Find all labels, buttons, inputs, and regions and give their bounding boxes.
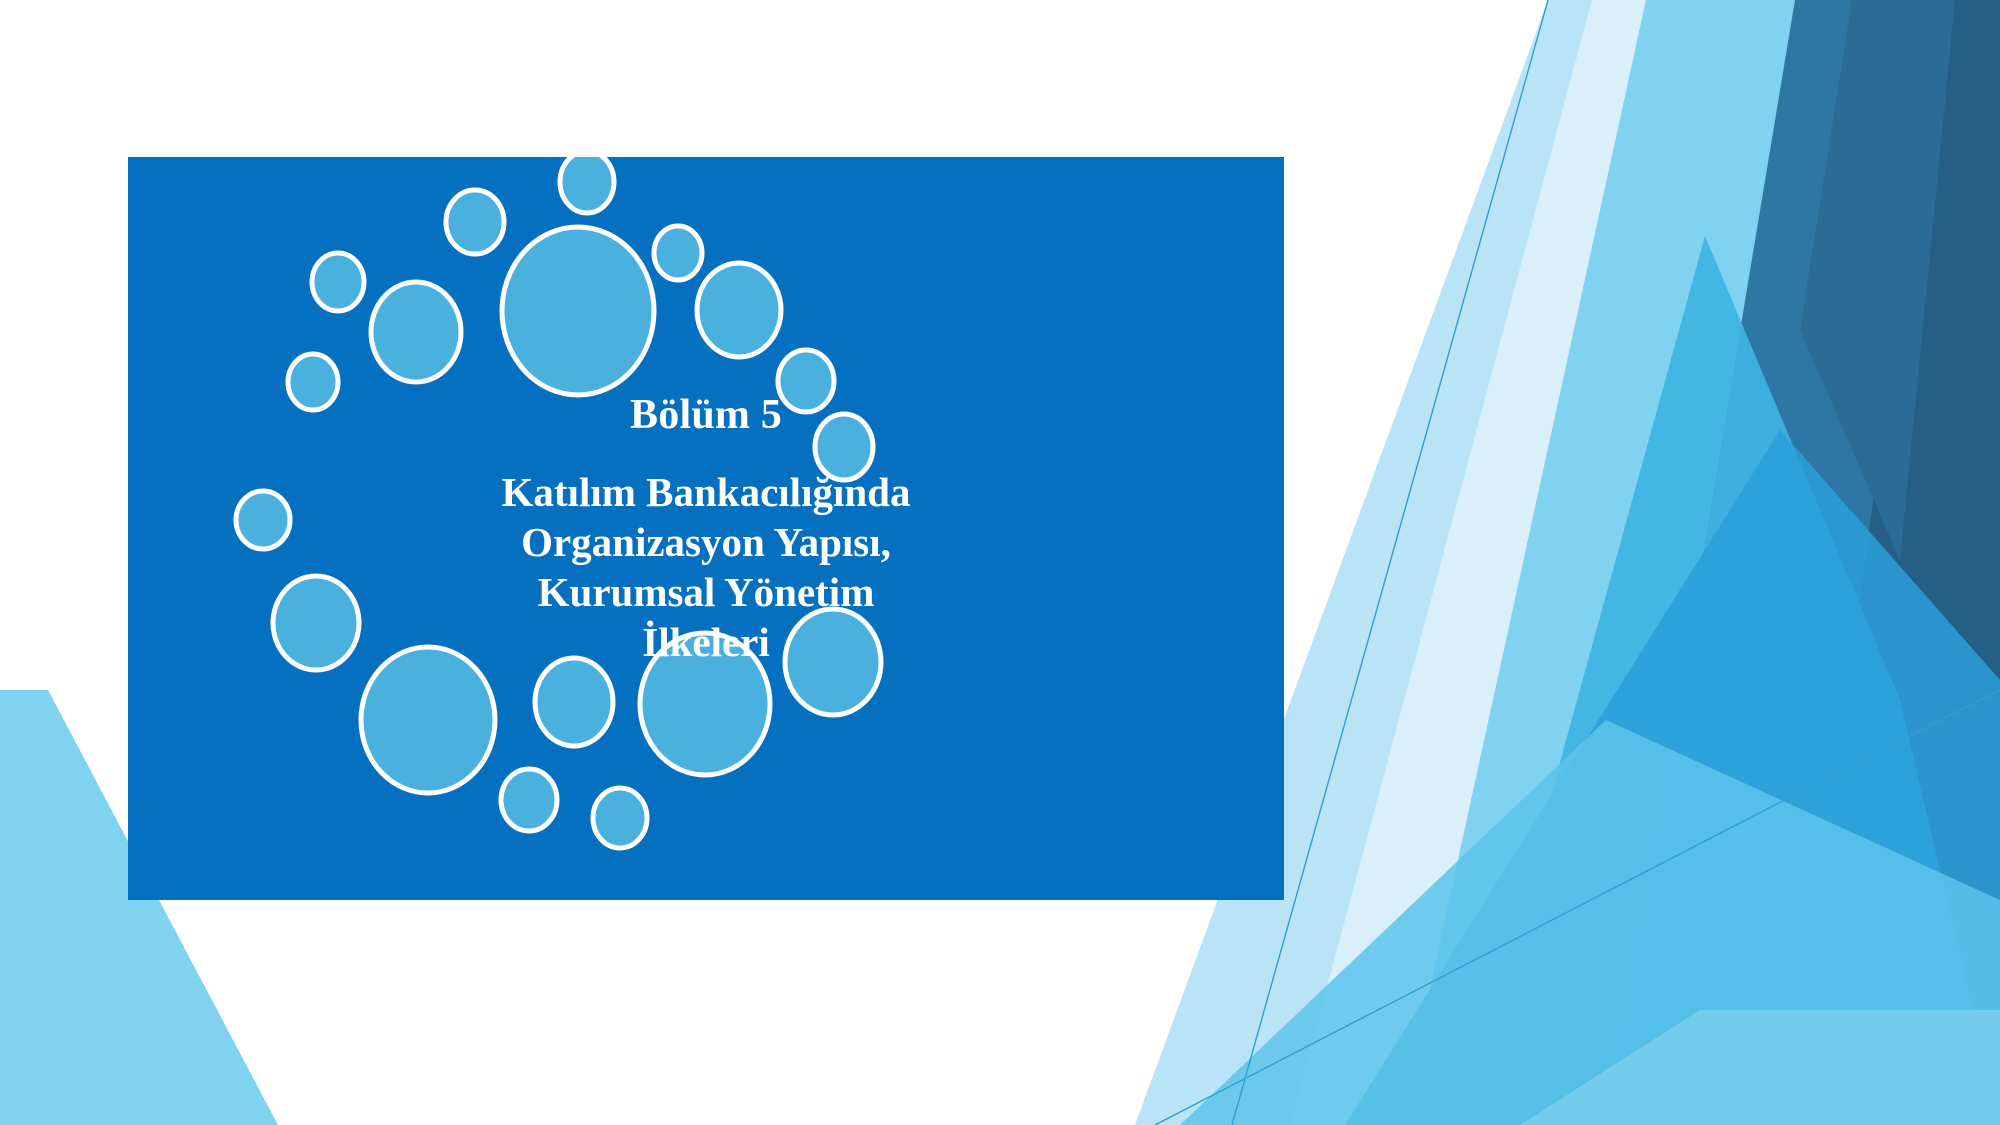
bubble-circle xyxy=(502,227,654,395)
facet-pale-bottom-fan xyxy=(1520,1010,2000,1125)
panel-background-rect xyxy=(128,157,1284,900)
bubble-circle-art xyxy=(128,157,1284,900)
bubble-circle xyxy=(560,157,614,213)
bubble-circle xyxy=(535,658,613,746)
bubble-circle xyxy=(640,633,770,775)
bubble-circle xyxy=(785,609,881,715)
facet-sky-wide xyxy=(1205,0,1795,1125)
facet-mid-blue-band xyxy=(1460,236,2000,1125)
facet-navy-right-edge xyxy=(1790,0,2000,1125)
facet-blue-lower-sweep xyxy=(1345,430,2000,1125)
presentation-slide: Bölüm 5 Katılım Bankacılığında Organizas… xyxy=(0,0,2000,1125)
facet-steel-far-right xyxy=(1560,0,2000,1125)
bubble-circle xyxy=(654,226,702,280)
bubble-circle xyxy=(697,263,781,357)
bubble-circle xyxy=(361,647,495,793)
bubble-circle xyxy=(371,282,461,382)
bubble-circle xyxy=(273,576,359,670)
bubble-circle xyxy=(778,350,834,412)
facet-sky-bottom-fan xyxy=(1180,720,2000,1125)
facet-ice-sliver xyxy=(1290,0,1646,1125)
hairline-diagonal-cross xyxy=(1800,690,2000,792)
bubble-circle xyxy=(312,253,364,311)
bubble-circle xyxy=(593,788,647,848)
facet-steel-dark-wedge xyxy=(1800,0,1955,560)
bubble-circle xyxy=(501,769,557,831)
title-picture-panel xyxy=(128,157,1284,900)
bubble-circle xyxy=(815,414,873,480)
bubble-circle xyxy=(236,491,290,549)
bubble-circle xyxy=(288,354,338,410)
bubble-circle xyxy=(446,190,504,254)
